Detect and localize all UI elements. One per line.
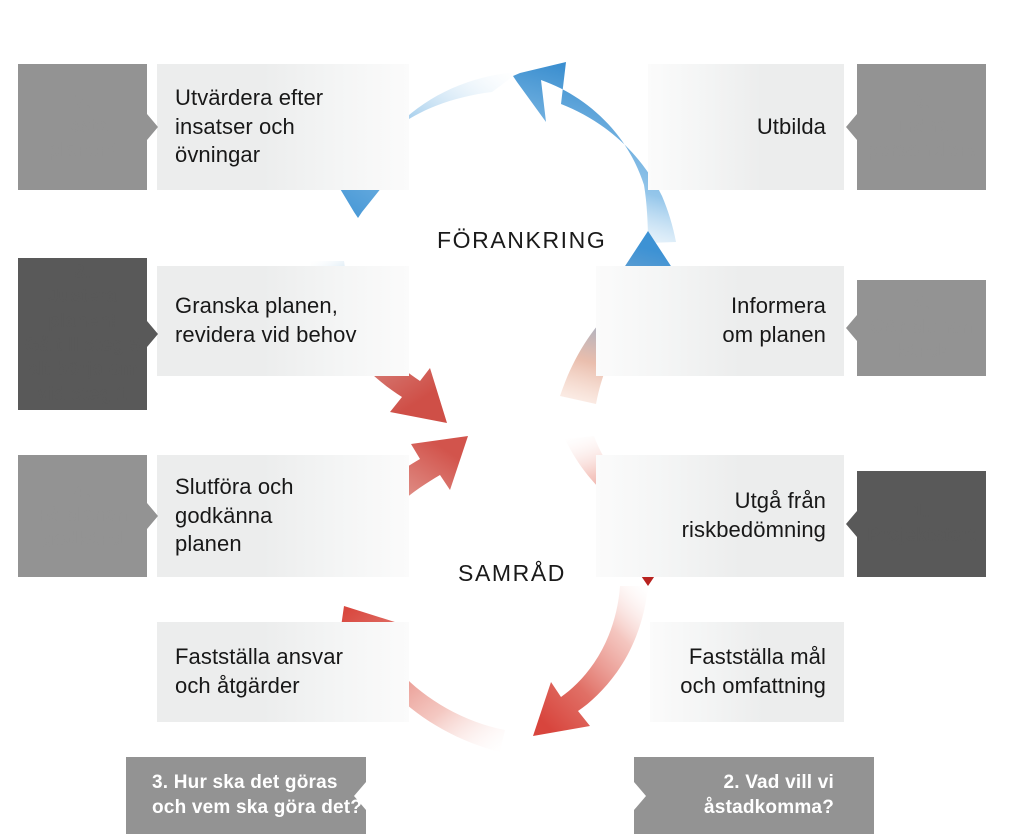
panel-step-7: Utvärdera efter insatser och övningar — [157, 64, 409, 190]
panel-step-3: Fastställa ansvar och åtgärder — [157, 622, 409, 722]
panel-step-1: Utgå från riskbedömning — [596, 455, 844, 577]
cycle-label-forankring: FÖRANKRING — [437, 227, 606, 254]
tag-step-3-text: 3. Hur ska det göras och vem ska göra de… — [152, 771, 362, 820]
panel-step-4-text: Slutföra och godkänna planen — [175, 473, 294, 559]
tag-step-8[interactable]: 8. Justera planen! Gå till steg 5 alt bö… — [18, 258, 147, 410]
panel-step-6: Utbilda — [648, 64, 844, 190]
cycle-label-forankring-text: FÖRANKRING — [437, 227, 606, 253]
panel-step-3-text: Fastställa ansvar och åtgärder — [175, 643, 343, 700]
tag-step-1[interactable]: 1. Projektstart — [857, 471, 986, 577]
tag-step-6-text: 6. Träna personalen! — [867, 91, 977, 164]
tag-step-6[interactable]: 6. Träna personalen! — [857, 64, 986, 190]
tag-step-5-text: 5. Gör planen känd! — [870, 292, 972, 365]
tag-step-4[interactable]: 4. Få planen godkänd — [18, 455, 147, 577]
panel-step-8-text: Granska planen, revidera vid behov — [175, 292, 357, 349]
tag-step-5[interactable]: 5. Gör planen känd! — [857, 280, 986, 376]
tag-step-7[interactable]: 7. Testa planen! — [18, 64, 147, 190]
cycle-label-samrad: SAMRÅD — [458, 560, 566, 587]
tag-step-4-text: 4. Få planen godkänd — [37, 480, 127, 553]
diagram-canvas: Utvärdera efter insatser och övningar Gr… — [0, 0, 1024, 834]
cycle-label-samrad-text: SAMRÅD — [458, 560, 566, 586]
tag-step-7-text: 7. Testa planen! — [48, 91, 117, 164]
tag-step-1-text: 1. Projektstart — [868, 500, 976, 549]
panel-step-7-text: Utvärdera efter insatser och övningar — [175, 84, 323, 170]
panel-step-5-text: Informera om planen — [722, 292, 826, 349]
panel-step-4: Slutföra och godkänna planen — [157, 455, 409, 577]
panel-step-5: Informera om planen — [596, 266, 844, 376]
tag-step-3[interactable]: 3. Hur ska det göras och vem ska göra de… — [126, 757, 366, 834]
panel-step-1-text: Utgå från riskbedömning — [682, 487, 826, 544]
tag-step-2[interactable]: 2. Vad vill vi åstadkomma? — [634, 757, 874, 834]
tag-step-2-text: 2. Vad vill vi åstadkomma? — [704, 771, 834, 820]
panel-step-2: Fastställa mål och omfattning — [650, 622, 844, 722]
panel-step-2-text: Fastställa mål och omfattning — [680, 643, 826, 700]
panel-step-8: Granska planen, revidera vid behov — [157, 266, 409, 376]
tag-step-8-text: 8. Justera planen! Gå till steg 5 alt bö… — [25, 261, 141, 407]
bottom-right-red-arrow — [533, 586, 648, 736]
panel-step-6-text: Utbilda — [757, 113, 826, 142]
